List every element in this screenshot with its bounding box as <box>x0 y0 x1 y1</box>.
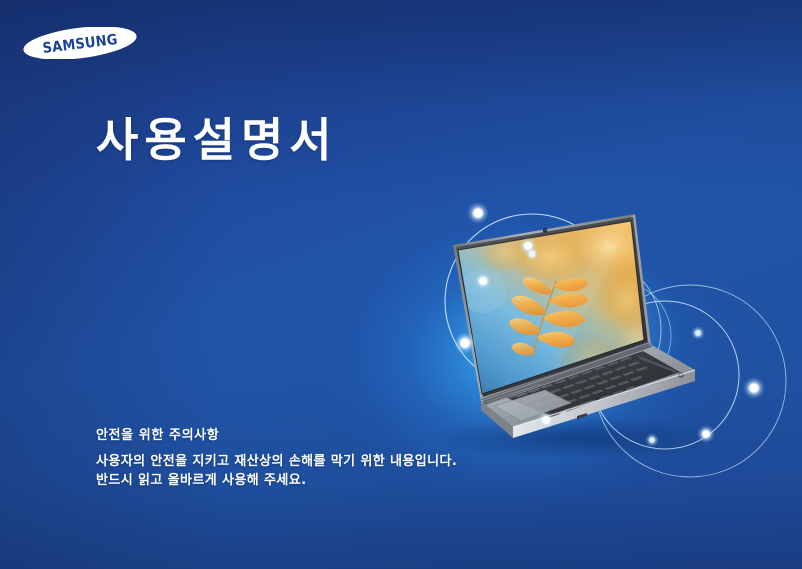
safety-notice-block: 안전을 위한 주의사항 사용자의 안전을 지키고 재산상의 손해를 막기 위한 … <box>96 424 457 491</box>
safety-notice-line-2: 반드시 읽고 올바르게 사용해 주세요. <box>96 472 457 491</box>
safety-notice-heading: 안전을 위한 주의사항 <box>96 424 457 443</box>
page-title: 사용설명서 <box>96 114 338 167</box>
laptop-product-image: SAMSUNG <box>395 195 775 455</box>
safety-notice-line-1: 사용자의 안전을 지키고 재산상의 손해를 막기 위한 내용입니다. <box>96 453 457 472</box>
manual-cover-page: SAMSUNG 사용설명서 <box>0 0 802 569</box>
samsung-logo: SAMSUNG <box>22 27 138 59</box>
laptop-shadow <box>425 416 725 455</box>
